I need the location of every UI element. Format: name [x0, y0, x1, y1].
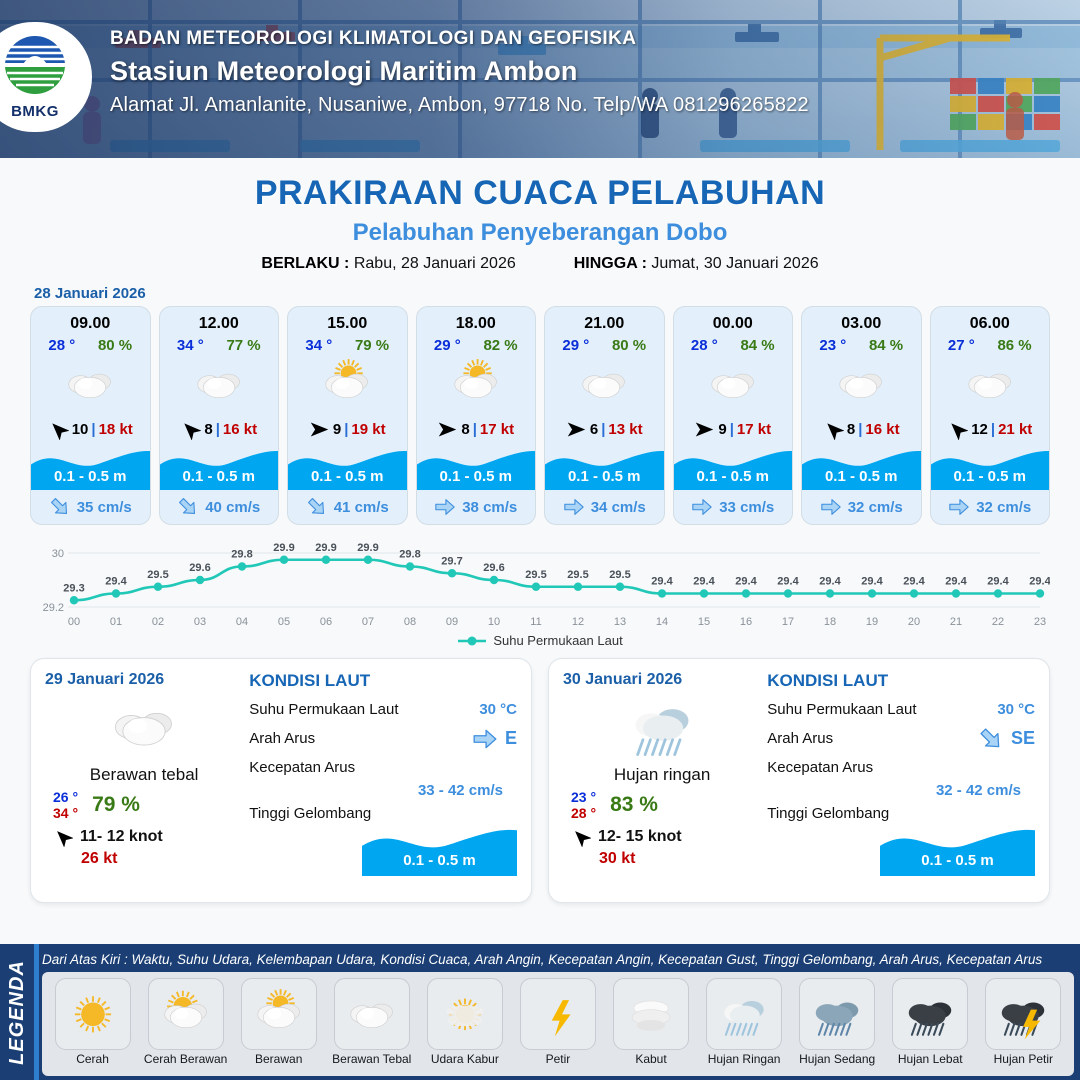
card-humidity: 84 %: [740, 337, 774, 354]
legenda-note: Dari Atas Kiri : Waktu, Suhu Udara, Kele…: [42, 952, 1072, 967]
wind-direction-arrow-e: [694, 419, 715, 440]
day-wind-speed: 12- 15 knot: [598, 828, 682, 846]
station-name: Stasiun Meteorologi Maritim Ambon: [110, 56, 809, 87]
day-sst-label: Suhu Permukaan Laut: [249, 701, 398, 718]
card-humidity: 84 %: [869, 337, 903, 354]
day-date: 30 Januari 2026: [563, 671, 761, 689]
legenda-item: Berawan Tebal: [328, 978, 416, 1066]
legenda-item-label: Cerah Berawan: [142, 1052, 230, 1066]
svg-text:29.4: 29.4: [735, 576, 757, 588]
day-condition: Hujan ringan: [563, 765, 761, 785]
svg-text:06: 06: [320, 616, 332, 628]
hourly-forecast-cards: 09.00 28 ° 80 % 10 | 18 kt 0.1 - 0.5 m: [0, 306, 1080, 525]
card-temperature: 29 °: [434, 337, 461, 354]
card-wave-block: 0.1 - 0.5 m: [674, 446, 793, 490]
weather-icon-hujan-lebat: [901, 986, 959, 1041]
day-current-dir-value-group: SE: [978, 726, 1035, 752]
legenda-side-label-wrap: LEGENDA: [0, 944, 34, 1080]
weather-icon-kabut: [622, 986, 680, 1041]
day-weather-icon: [45, 691, 243, 761]
day-wave-value: 0.1 - 0.5 m: [362, 852, 517, 869]
current-direction-arrow-e: [434, 496, 456, 518]
card-wave-block: 0.1 - 0.5 m: [31, 446, 150, 490]
chart-legend: Suhu Permukaan Laut: [0, 633, 1080, 648]
day-temp-row: 23 ° 28 ° 83 %: [563, 789, 761, 821]
weather-icon-udara-kabur: [436, 986, 494, 1041]
legenda-item-label: Hujan Petir: [979, 1052, 1067, 1066]
card-time: 06.00: [931, 307, 1050, 333]
card-current-row: 38 cm/s: [417, 490, 536, 524]
svg-text:11: 11: [530, 616, 541, 628]
card-weather-icon: [802, 356, 921, 412]
card-temp-hum-row: 28 ° 80 %: [31, 333, 150, 354]
legenda-item-label: Berawan Tebal: [328, 1052, 416, 1066]
legenda-item-icon: [985, 978, 1061, 1050]
legenda-side-label: LEGENDA: [6, 960, 29, 1065]
card-humidity: 80 %: [612, 337, 646, 354]
card-temperature: 28 °: [48, 337, 75, 354]
svg-text:19: 19: [866, 616, 878, 628]
card-temp-hum-row: 34 ° 79 %: [288, 333, 407, 354]
header-text-block: BADAN METEOROLOGI KLIMATOLOGI DAN GEOFIS…: [110, 28, 809, 117]
page-title: PRAKIRAAN CUACA PELABUHAN: [0, 174, 1080, 213]
wind-direction-arrow-nw: [571, 827, 591, 847]
legenda-item: Hujan Sedang: [793, 978, 881, 1066]
legenda-item-icon: [427, 978, 503, 1050]
card-current-speed: 35 cm/s: [77, 499, 132, 516]
chart-legend-label: Suhu Permukaan Laut: [493, 633, 622, 648]
legenda-item-label: Udara Kabur: [421, 1052, 509, 1066]
card-weather-icon: [288, 356, 407, 412]
svg-text:29.5: 29.5: [147, 569, 168, 581]
card-wave-block: 0.1 - 0.5 m: [288, 446, 407, 490]
svg-text:07: 07: [362, 616, 374, 628]
legenda-item: Cerah: [49, 978, 137, 1066]
wind-direction-arrow-e: [309, 419, 330, 440]
svg-text:29.5: 29.5: [609, 569, 630, 581]
card-humidity: 77 %: [226, 337, 260, 354]
day-section-title: KONDISI LAUT: [249, 671, 517, 691]
hourly-card: 12.00 34 ° 77 % 8 | 16 kt 0.1 - 0.5 m: [159, 306, 280, 525]
card-gust: 16 kt: [223, 421, 257, 438]
legenda-item-icon: [613, 978, 689, 1050]
svg-text:14: 14: [656, 616, 668, 628]
card-temp-hum-row: 34 ° 77 %: [160, 333, 279, 354]
card-wind-row: 9 | 19 kt: [288, 412, 407, 446]
svg-text:13: 13: [614, 616, 626, 628]
day-wave-block: 0.1 - 0.5 m: [880, 824, 1035, 876]
day-humidity: 83 %: [610, 793, 658, 817]
wind-direction-arrow-nw: [53, 827, 73, 847]
day-wind-row: 11- 12 knot: [45, 827, 243, 847]
legenda-item: Berawan: [235, 978, 323, 1066]
card-time: 21.00: [545, 307, 664, 333]
legenda-item-icon: [892, 978, 968, 1050]
svg-text:17: 17: [782, 616, 794, 628]
day-condition: Berawan tebal: [45, 765, 243, 785]
day-current-speed-label-row: Kecepatan Arus: [767, 753, 1035, 782]
svg-text:29.9: 29.9: [315, 542, 336, 554]
day-sst-value: 30 °C: [479, 701, 517, 718]
day-current-dir-label: Arah Arus: [767, 730, 833, 747]
svg-text:29.4: 29.4: [1029, 576, 1050, 588]
weather-icon-berawan: [250, 986, 308, 1041]
card-wind-speed: 9: [333, 421, 341, 438]
station-address: Alamat Jl. Amanlanite, Nusaniwe, Ambon, …: [110, 94, 809, 117]
svg-text:21: 21: [950, 616, 962, 628]
bmkg-emblem-icon: [3, 34, 67, 96]
day-sst-row: Suhu Permukaan Laut 30 °C: [249, 695, 517, 724]
card-current-speed: 38 cm/s: [462, 499, 517, 516]
day-temp-col: 26 ° 34 °: [53, 789, 78, 821]
weather-icon-cerah-berawan: [157, 986, 215, 1041]
svg-text:29.5: 29.5: [525, 569, 546, 581]
day-section-title: KONDISI LAUT: [767, 671, 1035, 691]
svg-text:18: 18: [824, 616, 836, 628]
legenda-item-label: Kabut: [607, 1052, 695, 1066]
card-wind-row: 12 | 21 kt: [931, 412, 1050, 446]
svg-text:29.2: 29.2: [43, 602, 64, 614]
svg-text:29.6: 29.6: [189, 562, 210, 574]
berlaku-group: BERLAKU : Rabu, 28 Januari 2026: [261, 255, 515, 273]
hourly-card: 18.00 29 ° 82 % 8 | 17 kt 0.1 - 0.5 m: [416, 306, 537, 525]
card-current-row: 34 cm/s: [545, 490, 664, 524]
card-temp-hum-row: 23 ° 84 %: [802, 333, 921, 354]
weather-icon-berawan-tebal: [704, 356, 762, 411]
svg-text:15: 15: [698, 616, 710, 628]
weather-icon-berawan-tebal: [105, 689, 183, 763]
svg-text:29.9: 29.9: [357, 542, 378, 554]
current-direction-arrow-e: [948, 496, 970, 518]
legenda-item-icon: [334, 978, 410, 1050]
card-current-row: 33 cm/s: [674, 490, 793, 524]
svg-text:00: 00: [68, 616, 80, 628]
legenda-item: Kabut: [607, 978, 695, 1066]
card-wave-height: 0.1 - 0.5 m: [288, 468, 407, 485]
card-wind-speed: 8: [847, 421, 855, 438]
day-temp-max: 28 °: [571, 805, 596, 821]
hingga-value: Jumat, 30 Januari 2026: [651, 255, 818, 272]
current-direction-arrow-e: [472, 726, 498, 752]
weather-icon-hujan-sedang: [808, 986, 866, 1041]
weather-icon-hujan-petir: [994, 986, 1052, 1041]
current-direction-arrow-se: [49, 496, 71, 518]
svg-text:29.4: 29.4: [819, 576, 841, 588]
card-temperature: 27 °: [948, 337, 975, 354]
card-weather-icon: [545, 356, 664, 412]
daily-forecast-panels: 29 Januari 2026 Berawan tebal 26 ° 34 ° …: [0, 648, 1080, 903]
svg-text:20: 20: [908, 616, 920, 628]
card-current-row: 35 cm/s: [31, 490, 150, 524]
hourly-date-label: 28 Januari 2026: [34, 285, 1080, 302]
card-wave-height: 0.1 - 0.5 m: [160, 468, 279, 485]
svg-text:29.4: 29.4: [987, 576, 1009, 588]
weather-icon-berawan-tebal: [575, 356, 633, 411]
day-left-column: 30 Januari 2026 Hujan ringan 23 ° 28 ° 8…: [563, 671, 761, 892]
svg-text:29.7: 29.7: [441, 555, 462, 567]
wind-direction-arrow-nw: [48, 419, 69, 440]
svg-text:22: 22: [992, 616, 1004, 628]
card-temperature: 34 °: [177, 337, 204, 354]
day-current-speed-value: 32 - 42 cm/s: [767, 782, 1035, 799]
day-current-dir-row: Arah Arus SE: [767, 724, 1035, 753]
page-subtitle: Pelabuhan Penyeberangan Dobo: [0, 219, 1080, 247]
svg-text:10: 10: [488, 616, 500, 628]
day-current-speed-value: 33 - 42 cm/s: [249, 782, 517, 799]
berlaku-value: Rabu, 28 Januari 2026: [354, 255, 516, 272]
berlaku-label: BERLAKU :: [261, 255, 349, 272]
weather-icon-berawan-tebal: [343, 986, 401, 1041]
card-wave-block: 0.1 - 0.5 m: [545, 446, 664, 490]
svg-text:30: 30: [52, 548, 64, 560]
validity-row: BERLAKU : Rabu, 28 Januari 2026 HINGGA :…: [0, 255, 1080, 273]
card-temperature: 23 °: [819, 337, 846, 354]
card-wave-block: 0.1 - 0.5 m: [417, 446, 536, 490]
legenda-item-icon: [706, 978, 782, 1050]
card-wave-height: 0.1 - 0.5 m: [931, 468, 1050, 485]
card-temperature: 34 °: [305, 337, 332, 354]
day-weather-icon: [563, 691, 761, 761]
card-time: 12.00: [160, 307, 279, 333]
day-wind-speed: 11- 12 knot: [80, 828, 163, 846]
card-wind-row: 9 | 17 kt: [674, 412, 793, 446]
card-separator: |: [344, 421, 348, 438]
legenda-item: Petir: [514, 978, 602, 1066]
card-wave-height: 0.1 - 0.5 m: [31, 468, 150, 485]
card-current-row: 40 cm/s: [160, 490, 279, 524]
card-current-row: 41 cm/s: [288, 490, 407, 524]
legenda-items: Cerah Cerah Berawan Berawan Berawan Teba…: [42, 972, 1074, 1076]
hingga-label: HINGGA :: [574, 255, 647, 272]
card-humidity: 80 %: [98, 337, 132, 354]
day-temp-max: 34 °: [53, 805, 78, 821]
day-current-speed-label: Kecepatan Arus: [767, 759, 873, 776]
current-direction-arrow-e: [563, 496, 585, 518]
card-gust: 18 kt: [99, 421, 133, 438]
page-header: BMKG BADAN METEOROLOGI KLIMATOLOGI DAN G…: [0, 0, 1080, 158]
sst-chart: 3029.229.30029.40129.50229.60329.80429.9…: [30, 531, 1050, 631]
day-gust: 30 kt: [563, 850, 761, 868]
legenda-item: Hujan Ringan: [700, 978, 788, 1066]
day-wave-label: Tinggi Gelombang: [767, 805, 889, 822]
card-wave-block: 0.1 - 0.5 m: [931, 446, 1050, 490]
card-wave-height: 0.1 - 0.5 m: [674, 468, 793, 485]
card-time: 15.00: [288, 307, 407, 333]
svg-text:29.8: 29.8: [399, 549, 420, 561]
card-gust: 17 kt: [480, 421, 514, 438]
svg-text:29.9: 29.9: [273, 542, 294, 554]
day-current-dir-label: Arah Arus: [249, 730, 315, 747]
card-wind-speed: 8: [461, 421, 469, 438]
card-current-row: 32 cm/s: [802, 490, 921, 524]
wind-direction-arrow-nw: [823, 419, 844, 440]
current-direction-arrow-e: [820, 496, 842, 518]
day-temp-min: 23 °: [571, 789, 596, 805]
svg-text:29.5: 29.5: [567, 569, 588, 581]
day-current-dir-value: E: [505, 728, 517, 749]
card-wind-row: 8 | 17 kt: [417, 412, 536, 446]
card-weather-icon: [31, 356, 150, 412]
legenda-item-icon: [55, 978, 131, 1050]
wind-direction-arrow-nw: [180, 419, 201, 440]
card-time: 00.00: [674, 307, 793, 333]
legenda-item: Hujan Petir: [979, 978, 1067, 1066]
card-separator: |: [216, 421, 220, 438]
svg-text:23: 23: [1034, 616, 1046, 628]
legenda-item-label: Petir: [514, 1052, 602, 1066]
svg-text:29.3: 29.3: [63, 582, 84, 594]
hourly-card: 00.00 28 ° 84 % 9 | 17 kt 0.1 - 0.5 m: [673, 306, 794, 525]
svg-text:29.4: 29.4: [693, 576, 715, 588]
legenda-item-label: Hujan Sedang: [793, 1052, 881, 1066]
svg-text:08: 08: [404, 616, 416, 628]
legenda-item: Hujan Lebat: [886, 978, 974, 1066]
hourly-card: 21.00 29 ° 80 % 6 | 13 kt 0.1 - 0.5 m: [544, 306, 665, 525]
card-wind-speed: 10: [72, 421, 89, 438]
card-time: 03.00: [802, 307, 921, 333]
day-temp-col: 23 ° 28 °: [571, 789, 596, 821]
legenda-item-icon: [148, 978, 224, 1050]
card-current-row: 32 cm/s: [931, 490, 1050, 524]
card-weather-icon: [160, 356, 279, 412]
card-current-speed: 32 cm/s: [976, 499, 1031, 516]
card-current-speed: 34 cm/s: [591, 499, 646, 516]
day-left-column: 29 Januari 2026 Berawan tebal 26 ° 34 ° …: [45, 671, 243, 892]
day-gust: 26 kt: [45, 850, 243, 868]
weather-icon-petir: [529, 986, 587, 1041]
card-wind-row: 10 | 18 kt: [31, 412, 150, 446]
card-separator: |: [858, 421, 862, 438]
card-gust: 13 kt: [608, 421, 642, 438]
card-current-speed: 41 cm/s: [334, 499, 389, 516]
card-temperature: 28 °: [691, 337, 718, 354]
weather-icon-berawan-tebal: [832, 356, 890, 411]
legenda-item-label: Hujan Ringan: [700, 1052, 788, 1066]
wind-direction-arrow-e: [437, 419, 458, 440]
day-humidity: 79 %: [92, 793, 140, 817]
svg-text:12: 12: [572, 616, 584, 628]
svg-text:29.8: 29.8: [231, 549, 252, 561]
svg-text:16: 16: [740, 616, 752, 628]
legenda-item-label: Cerah: [49, 1052, 137, 1066]
current-direction-arrow-se: [177, 496, 199, 518]
svg-text:04: 04: [236, 616, 248, 628]
legenda-bar: LEGENDA Dari Atas Kiri : Waktu, Suhu Uda…: [0, 944, 1080, 1080]
svg-text:29.4: 29.4: [777, 576, 799, 588]
day-sst-label: Suhu Permukaan Laut: [767, 701, 916, 718]
legenda-item-label: Hujan Lebat: [886, 1052, 974, 1066]
current-direction-arrow-e: [691, 496, 713, 518]
card-wave-height: 0.1 - 0.5 m: [545, 468, 664, 485]
svg-text:05: 05: [278, 616, 290, 628]
day-wind-row: 12- 15 knot: [563, 827, 761, 847]
weather-icon-berawan: [447, 356, 505, 411]
legenda-item-icon: [799, 978, 875, 1050]
card-humidity: 86 %: [997, 337, 1031, 354]
day-date: 29 Januari 2026: [45, 671, 243, 689]
card-wave-block: 0.1 - 0.5 m: [160, 446, 279, 490]
card-wave-block: 0.1 - 0.5 m: [802, 446, 921, 490]
wind-direction-arrow-e: [566, 419, 587, 440]
day-current-dir-value: SE: [1011, 728, 1035, 749]
card-wind-speed: 9: [718, 421, 726, 438]
legenda-item-label: Berawan: [235, 1052, 323, 1066]
forecast-title-block: PRAKIRAAN CUACA PELABUHAN Pelabuhan Peny…: [0, 174, 1080, 273]
card-temp-hum-row: 27 ° 86 %: [931, 333, 1050, 354]
weather-icon-cerah: [64, 986, 122, 1041]
daily-forecast-panel: 29 Januari 2026 Berawan tebal 26 ° 34 ° …: [30, 658, 532, 903]
agency-name: BADAN METEOROLOGI KLIMATOLOGI DAN GEOFIS…: [110, 28, 809, 50]
card-separator: |: [473, 421, 477, 438]
card-separator: |: [91, 421, 95, 438]
day-wave-block: 0.1 - 0.5 m: [362, 824, 517, 876]
svg-text:03: 03: [194, 616, 206, 628]
card-wave-height: 0.1 - 0.5 m: [802, 468, 921, 485]
day-wave-label: Tinggi Gelombang: [249, 805, 371, 822]
day-current-speed-label-row: Kecepatan Arus: [249, 753, 517, 782]
card-temp-hum-row: 29 ° 82 %: [417, 333, 536, 354]
card-humidity: 82 %: [483, 337, 517, 354]
card-weather-icon: [417, 356, 536, 412]
sst-chart-svg: 3029.229.30029.40129.50229.60329.80429.9…: [30, 531, 1050, 631]
day-sst-value: 30 °C: [997, 701, 1035, 718]
legenda-item: Udara Kabur: [421, 978, 509, 1066]
day-temp-min: 26 °: [53, 789, 78, 805]
legenda-accent-bar: [34, 944, 39, 1080]
hingga-group: HINGGA : Jumat, 30 Januari 2026: [574, 255, 819, 273]
card-separator: |: [730, 421, 734, 438]
svg-text:29.4: 29.4: [105, 576, 127, 588]
legenda-item-icon: [241, 978, 317, 1050]
current-direction-arrow-se: [306, 496, 328, 518]
card-temp-hum-row: 29 ° 80 %: [545, 333, 664, 354]
svg-text:09: 09: [446, 616, 458, 628]
svg-text:02: 02: [152, 616, 164, 628]
weather-icon-berawan-tebal: [61, 356, 119, 411]
day-wave-value: 0.1 - 0.5 m: [880, 852, 1035, 869]
day-current-dir-row: Arah Arus E: [249, 724, 517, 753]
card-wave-height: 0.1 - 0.5 m: [417, 468, 536, 485]
wind-direction-arrow-nw: [947, 419, 968, 440]
legenda-item-icon: [520, 978, 596, 1050]
card-current-speed: 40 cm/s: [205, 499, 260, 516]
card-wind-speed: 8: [204, 421, 212, 438]
card-weather-icon: [931, 356, 1050, 412]
card-gust: 17 kt: [737, 421, 771, 438]
day-sst-row: Suhu Permukaan Laut 30 °C: [767, 695, 1035, 724]
card-current-speed: 32 cm/s: [848, 499, 903, 516]
day-current-dir-value-group: E: [472, 726, 517, 752]
card-humidity: 79 %: [355, 337, 389, 354]
card-wind-speed: 12: [971, 421, 988, 438]
bmkg-logo-text: BMKG: [0, 103, 71, 120]
daily-forecast-panel: 30 Januari 2026 Hujan ringan 23 ° 28 ° 8…: [548, 658, 1050, 903]
weather-icon-berawan-tebal: [961, 356, 1019, 411]
svg-text:01: 01: [110, 616, 122, 628]
svg-text:29.6: 29.6: [483, 562, 504, 574]
card-separator: |: [601, 421, 605, 438]
hourly-card: 03.00 23 ° 84 % 8 | 16 kt 0.1 - 0.5 m: [801, 306, 922, 525]
card-separator: |: [991, 421, 995, 438]
weather-icon-hujan-ringan: [715, 986, 773, 1041]
card-gust: 21 kt: [998, 421, 1032, 438]
weather-icon-berawan: [318, 356, 376, 411]
card-gust: 19 kt: [351, 421, 385, 438]
weather-icon-hujan-ringan: [623, 689, 701, 763]
chart-legend-swatch: [457, 635, 487, 647]
card-wind-row: 6 | 13 kt: [545, 412, 664, 446]
day-sea-conditions: KONDISI LAUT Suhu Permukaan Laut 30 °C A…: [243, 671, 517, 892]
